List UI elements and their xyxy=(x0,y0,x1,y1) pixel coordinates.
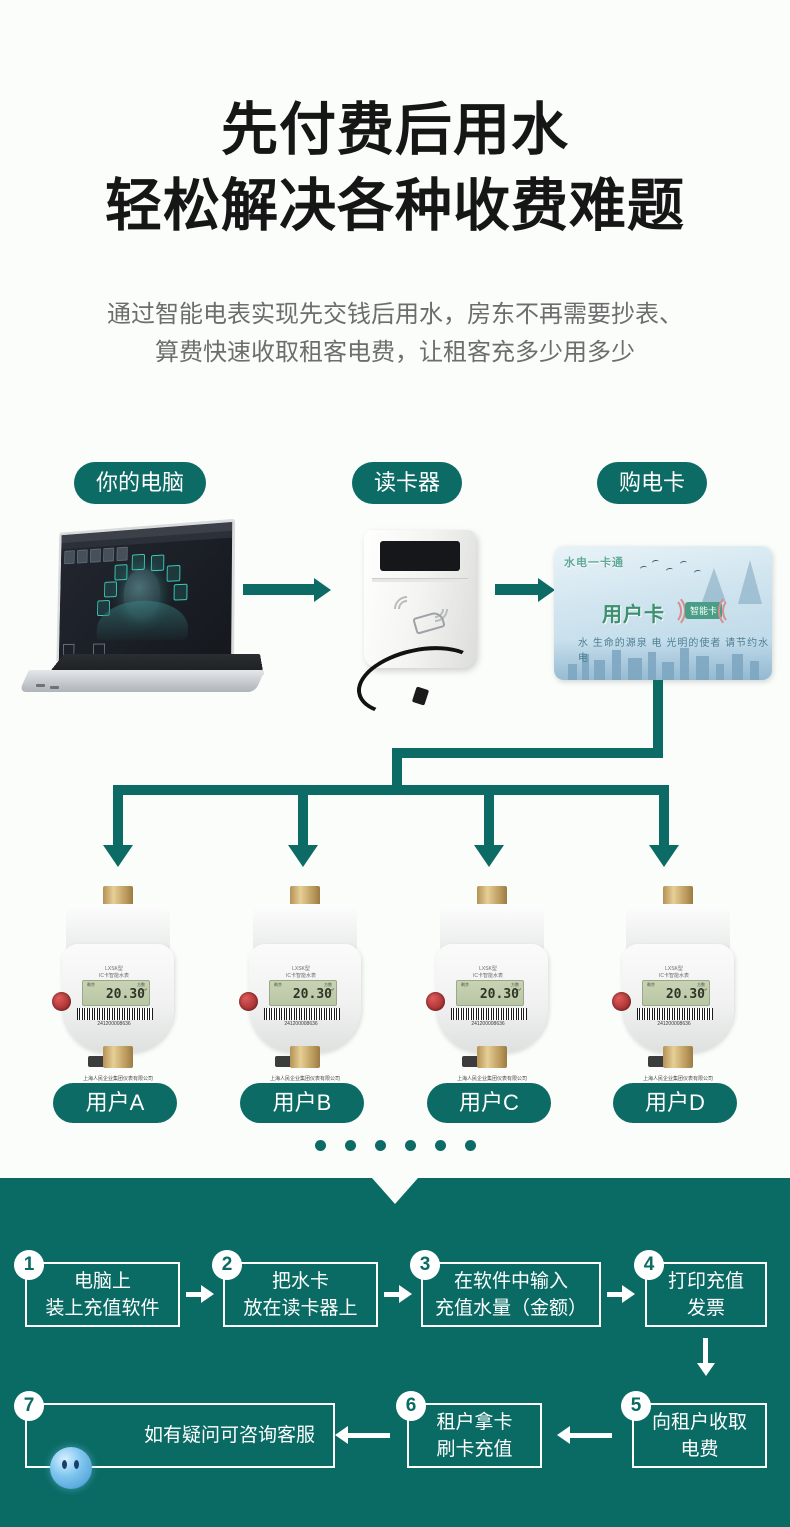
meter-lcd-value: 20.30 xyxy=(457,987,519,1002)
step-arrow-4-5 xyxy=(697,1363,715,1376)
step-badge-2: 2 xyxy=(212,1250,242,1280)
dot xyxy=(435,1140,446,1151)
connector-bus xyxy=(113,785,669,795)
meter-model-line2: IC卡智能水表 xyxy=(99,973,129,979)
step-text-2: 把水卡 放在读卡器上 xyxy=(243,1268,357,1322)
arrow-to-user-c xyxy=(474,845,504,867)
laptop-illustration xyxy=(18,517,266,692)
meter-model-line1: LXSK型 xyxy=(665,966,683,972)
water-meter-d: LXSK型 IC卡智能水表 剩余 方数 20.30 m³ 24120000863… xyxy=(614,886,742,1068)
step-arrow-2-3 xyxy=(399,1285,412,1303)
dot xyxy=(465,1140,476,1151)
bird-icon xyxy=(640,565,648,571)
laptop-screen xyxy=(56,519,235,663)
tech-node-icon xyxy=(132,554,145,571)
step-text-1: 电脑上 装上充值软件 xyxy=(45,1268,159,1322)
headline-line-1: 先付费后用水 xyxy=(0,92,790,168)
tech-node-icon xyxy=(114,564,127,580)
meter-pipe-bottom xyxy=(663,1046,693,1068)
reader-ridge xyxy=(372,578,468,582)
meter-lcd-unit: m³ xyxy=(702,987,707,992)
meter-barcode xyxy=(637,1008,713,1020)
arrow-to-user-a xyxy=(103,845,133,867)
label-user-a: 用户A xyxy=(53,1083,177,1123)
step-box-6: 租户拿卡 刷卡充值 xyxy=(407,1403,542,1468)
step-box-3: 在软件中输入 充值水量（金额） xyxy=(421,1262,601,1327)
tech-node-icon xyxy=(167,565,181,582)
bird-icon xyxy=(680,560,688,566)
laptop-base xyxy=(18,648,266,696)
step-1-line1: 电脑上 xyxy=(74,1271,131,1292)
step-badge-7: 7 xyxy=(14,1391,44,1421)
meter-model-line1: LXSK型 xyxy=(479,966,497,972)
step-arrow-5-6-bar xyxy=(570,1433,612,1438)
step-badge-5: 5 xyxy=(621,1391,651,1421)
step-arrow-6-7-bar xyxy=(348,1433,390,1438)
label-user-b: 用户B xyxy=(240,1083,364,1123)
meter-model-line2: IC卡智能水表 xyxy=(659,973,689,979)
label-your-computer: 你的电脑 xyxy=(74,462,206,504)
tech-node-icon xyxy=(151,554,165,571)
arrow-to-user-b xyxy=(288,845,318,867)
meter-lcd-value: 20.30 xyxy=(270,987,332,1002)
toolbar-icon xyxy=(64,550,75,564)
arrow-pc-to-reader-head xyxy=(314,578,331,602)
meter-serial: 241200008636 xyxy=(436,1021,540,1027)
infographic-page: 先付费后用水 轻松解决各种收费难题 通过智能电表实现先交钱后用水，房东不再需要抄… xyxy=(0,0,790,1527)
meter-body: LXSK型 IC卡智能水表 剩余 方数 20.30 m³ 24120000863… xyxy=(62,944,174,1052)
step-3-line1: 在软件中输入 xyxy=(454,1271,568,1292)
label-user-d: 用户D xyxy=(613,1083,737,1123)
mascot-eye xyxy=(62,1460,67,1469)
meter-serial: 241200008636 xyxy=(62,1021,166,1027)
step-arrow-3-4 xyxy=(622,1285,635,1303)
card-tagline: 水 生命的源泉 电 光明的使者 请节约水电 xyxy=(578,634,772,664)
card-brand: 水电一卡通 xyxy=(564,554,624,570)
meter-lcd: 剩余 方数 20.30 m³ xyxy=(269,980,337,1006)
step-text-7: 如有疑问可咨询客服 xyxy=(144,1422,315,1449)
meter-serial: 241200008636 xyxy=(249,1021,353,1027)
meter-pipe-bottom xyxy=(103,1046,133,1068)
meter-body: LXSK型 IC卡智能水表 剩余 方数 20.30 m³ 24120000863… xyxy=(249,944,361,1052)
screen-artwork xyxy=(85,548,202,643)
ic-card-illustration: 水电一卡通 用户卡 智能卡 水 生命的源泉 电 光明的使者 请节约水电 xyxy=(554,546,772,680)
meter-seal xyxy=(52,992,71,1011)
label-purchase-card: 购电卡 xyxy=(597,462,707,504)
step-text-6: 租户拿卡 刷卡充值 xyxy=(436,1409,512,1463)
rfid-icon xyxy=(392,594,450,634)
continuation-dots xyxy=(0,1140,790,1151)
meter-lcd-unit: m³ xyxy=(329,987,334,992)
arrow-to-user-d xyxy=(649,845,679,867)
meter-model-line1: LXSK型 xyxy=(292,966,310,972)
meter-model-line2: IC卡智能水表 xyxy=(286,973,316,979)
dot xyxy=(405,1140,416,1151)
meter-lcd-unit: m³ xyxy=(142,987,147,992)
step-box-4: 打印充值 发票 xyxy=(645,1262,767,1327)
connector-branch-b xyxy=(298,785,308,847)
panel-notch xyxy=(372,1178,418,1204)
meter-company: 上海人民企业集团仪表有限公司 xyxy=(253,1075,357,1082)
dot xyxy=(375,1140,386,1151)
connector-horizontal-upper xyxy=(392,748,663,758)
meter-pipe-bottom xyxy=(477,1046,507,1068)
meter-lcd-unit: m³ xyxy=(516,987,521,992)
meter-barcode xyxy=(451,1008,527,1020)
meter-company: 上海人民企业集团仪表有限公司 xyxy=(66,1075,170,1082)
meter-seal xyxy=(612,992,631,1011)
bird-icon xyxy=(694,569,702,575)
customer-service-mascot-icon xyxy=(50,1447,92,1489)
connector-card-down xyxy=(653,680,663,754)
meter-seal xyxy=(239,992,258,1011)
step-text-5: 向租户收取 电费 xyxy=(652,1409,747,1463)
laptop-port xyxy=(36,684,45,687)
meter-body: LXSK型 IC卡智能水表 剩余 方数 20.30 m³ 24120000863… xyxy=(436,944,548,1052)
step-3-line2: 充值水量（金额） xyxy=(435,1298,587,1319)
meter-model-line1: LXSK型 xyxy=(105,966,123,972)
tech-node-icon xyxy=(104,581,117,597)
bird-icon xyxy=(666,567,674,573)
meter-model: LXSK型 IC卡智能水表 xyxy=(62,966,166,980)
connector-branch-d xyxy=(659,785,669,847)
label-card-reader: 读卡器 xyxy=(352,462,462,504)
water-meter-a: LXSK型 IC卡智能水表 剩余 方数 20.30 m³ 24120000863… xyxy=(54,886,182,1068)
headline-line-2: 轻松解决各种收费难题 xyxy=(0,168,790,244)
page-subtitle: 通过智能电表实现先交钱后用水，房东不再需要抄表、 算费快速收取租客电费，让租客充… xyxy=(45,296,745,372)
step-6-line2: 刷卡充值 xyxy=(436,1439,512,1460)
card-wave-icon xyxy=(718,594,746,628)
water-meter-c: LXSK型 IC卡智能水表 剩余 方数 20.30 m³ 24120000863… xyxy=(428,886,556,1068)
meter-model: LXSK型 IC卡智能水表 xyxy=(622,966,726,980)
power-pylon-icon xyxy=(738,560,762,604)
dot xyxy=(345,1140,356,1151)
water-meter-b: LXSK型 IC卡智能水表 剩余 方数 20.30 m³ 24120000863… xyxy=(241,886,369,1068)
step-1-line2: 装上充值软件 xyxy=(45,1298,159,1319)
step-box-2: 把水卡 放在读卡器上 xyxy=(223,1262,378,1327)
page-headline: 先付费后用水 轻松解决各种收费难题 xyxy=(0,92,790,244)
reader-display xyxy=(380,541,460,571)
meter-seal xyxy=(426,992,445,1011)
connector-down-to-bus xyxy=(392,748,402,790)
step-badge-6: 6 xyxy=(396,1391,426,1421)
meter-model: LXSK型 IC卡智能水表 xyxy=(249,966,353,980)
connector-branch-c xyxy=(484,785,494,847)
subtitle-line-1: 通过智能电表实现先交钱后用水，房东不再需要抄表、 xyxy=(107,301,683,328)
step-6-line1: 租户拿卡 xyxy=(436,1412,512,1433)
step-2-line1: 把水卡 xyxy=(272,1271,329,1292)
building xyxy=(662,662,674,680)
bird-icon xyxy=(652,559,660,565)
meter-model-line2: IC卡智能水表 xyxy=(473,973,503,979)
step-badge-1: 1 xyxy=(14,1250,44,1280)
meter-barcode xyxy=(264,1008,340,1020)
step-box-1: 电脑上 装上充值软件 xyxy=(25,1262,180,1327)
arrow-pc-to-reader xyxy=(243,584,317,595)
meter-pipe-bottom xyxy=(290,1046,320,1068)
arrow-reader-to-card-head xyxy=(538,578,555,602)
step-badge-3: 3 xyxy=(410,1250,440,1280)
step-text-3: 在软件中输入 充值水量（金额） xyxy=(435,1268,587,1322)
step-arrow-1-2 xyxy=(201,1285,214,1303)
meter-company: 上海人民企业集团仪表有限公司 xyxy=(440,1075,544,1082)
step-arrow-3-4-bar xyxy=(607,1292,623,1297)
step-arrow-4-5-bar xyxy=(703,1338,708,1364)
step-2-line2: 放在读卡器上 xyxy=(243,1298,357,1319)
step-arrow-2-3-bar xyxy=(384,1292,400,1297)
tech-node-icon xyxy=(174,584,188,601)
step-5-line1: 向租户收取 xyxy=(652,1412,747,1433)
step-arrow-1-2-bar xyxy=(186,1292,202,1297)
step-text-4: 打印充值 发票 xyxy=(668,1268,744,1322)
step-box-5: 向租户收取 电费 xyxy=(632,1403,767,1468)
meter-body: LXSK型 IC卡智能水表 剩余 方数 20.30 m³ 24120000863… xyxy=(622,944,734,1052)
connector-branch-a xyxy=(113,785,123,847)
building xyxy=(568,664,577,680)
meter-model: LXSK型 IC卡智能水表 xyxy=(436,966,540,980)
meter-lcd-value: 20.30 xyxy=(83,987,145,1002)
hand-illustration xyxy=(97,599,189,641)
step-4-line2: 发票 xyxy=(687,1298,725,1319)
dot xyxy=(315,1140,326,1151)
step-4-line1: 打印充值 xyxy=(668,1271,744,1292)
card-wave-icon xyxy=(658,594,686,628)
label-user-c: 用户C xyxy=(427,1083,551,1123)
meter-lcd-value: 20.30 xyxy=(643,987,705,1002)
building xyxy=(716,664,724,680)
steps-panel: 1 电脑上 装上充值软件 2 把水卡 放在读卡器上 3 在软件中输入 充值水量（… xyxy=(0,1178,790,1527)
mascot-eye xyxy=(74,1460,79,1469)
card-title: 用户卡 xyxy=(602,598,665,627)
meter-barcode xyxy=(77,1008,153,1020)
meter-lcd: 剩余 方数 20.30 m³ xyxy=(642,980,710,1006)
meter-lcd: 剩余 方数 20.30 m³ xyxy=(456,980,524,1006)
card-reader-illustration xyxy=(356,530,486,705)
step-5-line2: 电费 xyxy=(680,1439,718,1460)
arrow-reader-to-card xyxy=(495,584,541,595)
meter-serial: 241200008636 xyxy=(622,1021,726,1027)
step-arrow-6-7 xyxy=(335,1426,348,1444)
meter-lcd: 剩余 方数 20.30 m³ xyxy=(82,980,150,1006)
laptop-port xyxy=(50,686,59,689)
step-badge-4: 4 xyxy=(634,1250,664,1280)
card-chip-tag: 智能卡 xyxy=(685,602,722,619)
meter-company: 上海人民企业集团仪表有限公司 xyxy=(626,1075,730,1082)
step-arrow-5-6 xyxy=(557,1426,570,1444)
subtitle-line-2: 算费快速收取租客电费，让租客充多少用多少 xyxy=(155,339,635,366)
